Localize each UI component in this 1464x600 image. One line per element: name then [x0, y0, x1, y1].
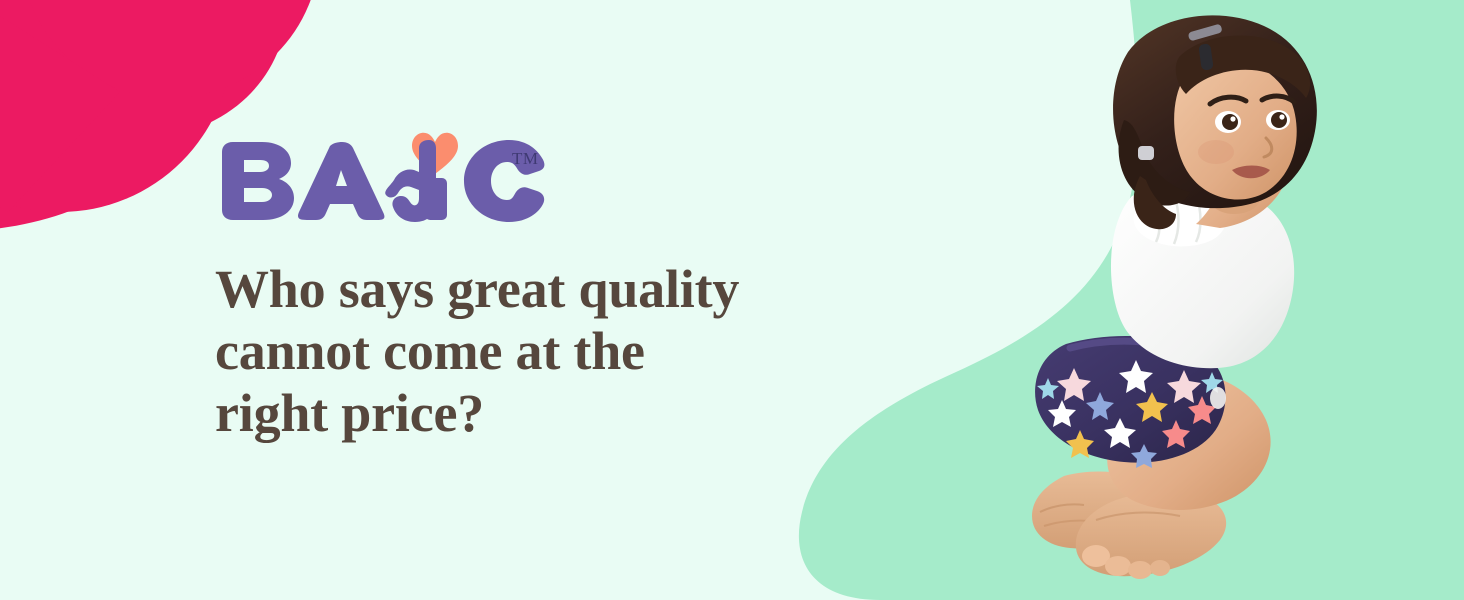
basic-wordmark [222, 140, 544, 222]
brand-logo[interactable]: TM [212, 128, 552, 228]
promo-banner: TM Who says great quality cannot come at… [0, 0, 1464, 600]
trademark-symbol: TM [512, 149, 539, 168]
headline-text: Who says great quality cannot come at th… [215, 258, 855, 444]
basic-logo-graphic: TM [212, 128, 552, 228]
content-column: TM Who says great quality cannot come at… [212, 0, 852, 600]
